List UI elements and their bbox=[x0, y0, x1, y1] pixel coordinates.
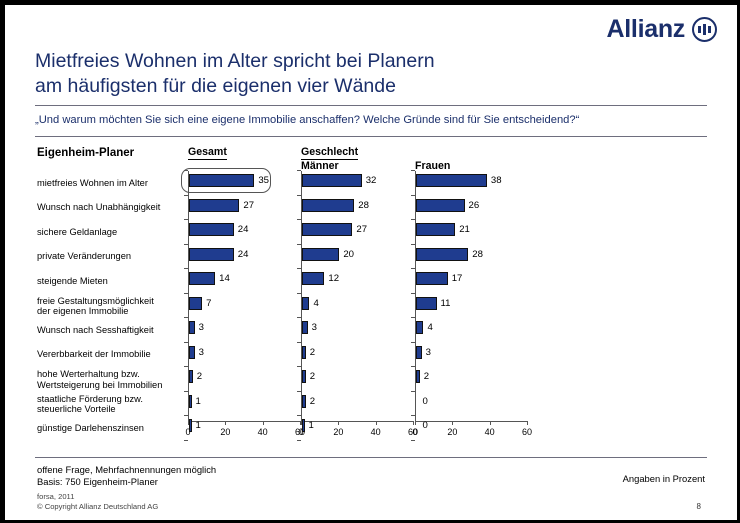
bar bbox=[189, 223, 234, 236]
bar-value-label: 38 bbox=[491, 174, 502, 187]
bar bbox=[189, 272, 215, 285]
divider-above-question bbox=[35, 105, 707, 106]
y-axis-tick bbox=[411, 391, 415, 392]
category-label: freie Gestaltungsmöglichkeitder eigenen … bbox=[37, 296, 182, 317]
x-axis-tick-label: 40 bbox=[371, 427, 381, 437]
bar-value-label: 28 bbox=[358, 199, 369, 212]
category-label: steigende Mieten bbox=[37, 276, 182, 287]
category-label: Vererbbarkeit der Immobilie bbox=[37, 349, 182, 360]
y-axis-tick bbox=[411, 317, 415, 318]
y-axis-tick bbox=[184, 219, 188, 220]
x-axis-tick bbox=[225, 421, 226, 425]
question-text: „Und warum möchten Sie sich eine eigene … bbox=[35, 114, 579, 126]
bar-value-label: 4 bbox=[313, 297, 318, 310]
bar-value-label: 3 bbox=[426, 346, 431, 359]
bar bbox=[416, 223, 455, 236]
y-axis-tick bbox=[411, 195, 415, 196]
y-axis-tick bbox=[297, 268, 301, 269]
bar-value-label: 14 bbox=[219, 272, 230, 285]
y-axis-tick bbox=[411, 244, 415, 245]
bar bbox=[416, 272, 448, 285]
footer-note-line1: offene Frage, Mehrfachnennungen möglich bbox=[37, 464, 216, 476]
y-axis-tick bbox=[411, 366, 415, 367]
allianz-logo: Allianz bbox=[607, 17, 717, 42]
page-title-line1: Mietfreies Wohnen im Alter spricht bei P… bbox=[35, 49, 635, 74]
y-axis-tick bbox=[184, 415, 188, 416]
category-label: Wunsch nach Unabhängigkeit bbox=[37, 202, 182, 213]
page-title: Mietfreies Wohnen im Alter spricht bei P… bbox=[35, 49, 635, 99]
y-axis-tick bbox=[297, 342, 301, 343]
y-axis-tick bbox=[184, 317, 188, 318]
y-axis-tick bbox=[297, 391, 301, 392]
bar bbox=[302, 321, 308, 334]
bar-value-label: 0 bbox=[423, 395, 428, 408]
y-axis-tick bbox=[411, 268, 415, 269]
footer-note-line2: Basis: 750 Eigenheim-Planer bbox=[37, 476, 216, 488]
footer-unit: Angaben in Prozent bbox=[623, 473, 705, 484]
y-axis-tick bbox=[297, 317, 301, 318]
footer-source-line1: forsa, 2011 bbox=[37, 492, 158, 502]
slide: Allianz Mietfreies Wohnen im Alter spric… bbox=[0, 0, 740, 523]
bar-value-label: 1 bbox=[196, 419, 201, 432]
bar bbox=[189, 346, 195, 359]
bar-value-label: 0 bbox=[423, 419, 428, 432]
y-axis-tick bbox=[184, 391, 188, 392]
x-axis-tick-label: 40 bbox=[485, 427, 495, 437]
bar bbox=[189, 419, 192, 432]
bar-value-label: 3 bbox=[199, 346, 204, 359]
bar-value-label: 12 bbox=[328, 272, 339, 285]
y-axis-tick bbox=[184, 268, 188, 269]
bar-value-label: 24 bbox=[238, 248, 249, 261]
y-axis-tick bbox=[297, 415, 301, 416]
bar-value-label: 20 bbox=[343, 248, 354, 261]
bar bbox=[189, 370, 193, 383]
column-header-geschlecht: Geschlecht bbox=[301, 146, 358, 160]
y-axis-tick bbox=[411, 293, 415, 294]
bar-value-label: 28 bbox=[472, 248, 483, 261]
bar bbox=[302, 174, 362, 187]
footer-source-line2: © Copyright Allianz Deutschland AG bbox=[37, 502, 158, 512]
bar bbox=[189, 297, 202, 310]
bar-value-label: 32 bbox=[366, 174, 377, 187]
x-axis-tick bbox=[452, 421, 453, 425]
divider-below-question bbox=[35, 136, 707, 137]
bar-value-label: 27 bbox=[243, 199, 254, 212]
category-label: mietfreies Wohnen im Alter bbox=[37, 178, 182, 189]
bar bbox=[302, 248, 339, 261]
category-label: Wunsch nach Sesshaftigkeit bbox=[37, 325, 182, 336]
bar-value-label: 26 bbox=[469, 199, 480, 212]
bar bbox=[416, 199, 465, 212]
bar bbox=[416, 174, 487, 187]
highlight-box bbox=[181, 168, 271, 193]
x-axis-tick-label: 20 bbox=[447, 427, 457, 437]
bar bbox=[302, 199, 354, 212]
bar-value-label: 7 bbox=[206, 297, 211, 310]
x-axis bbox=[415, 421, 527, 422]
bar-value-label: 2 bbox=[310, 395, 315, 408]
footer-note: offene Frage, Mehrfachnennungen möglich … bbox=[37, 464, 216, 487]
x-axis-tick-label: 40 bbox=[258, 427, 268, 437]
bar-value-label: 11 bbox=[441, 297, 451, 310]
y-axis-tick bbox=[411, 342, 415, 343]
y-axis-tick bbox=[184, 342, 188, 343]
y-axis-tick bbox=[411, 415, 415, 416]
x-axis-tick-label: 0 bbox=[412, 427, 417, 437]
category-label: hohe Werterhaltung bzw.Wertsteigerung be… bbox=[37, 369, 182, 390]
y-axis-tick bbox=[411, 170, 415, 171]
y-axis-tick bbox=[184, 293, 188, 294]
bar-value-label: 1 bbox=[196, 395, 201, 408]
bar-value-label: 24 bbox=[238, 223, 249, 236]
bar bbox=[416, 297, 437, 310]
chart-panel-frauen: 020406038262128171143200 bbox=[415, 171, 535, 449]
x-axis-tick-label: 20 bbox=[220, 427, 230, 437]
divider-footer bbox=[35, 457, 707, 458]
bar-value-label: 2 bbox=[424, 370, 429, 383]
bar bbox=[189, 321, 195, 334]
x-axis bbox=[301, 421, 413, 422]
y-axis-tick bbox=[184, 366, 188, 367]
chart-panel-maenner: 02040603228272012432221 bbox=[301, 171, 421, 449]
category-label: günstige Darlehenszinsen bbox=[37, 423, 182, 434]
bar-value-label: 2 bbox=[310, 370, 315, 383]
x-axis-tick bbox=[413, 421, 414, 425]
bar bbox=[302, 297, 309, 310]
category-label: sichere Geldanlage bbox=[37, 227, 182, 238]
x-axis bbox=[188, 421, 300, 422]
x-axis-tick bbox=[490, 421, 491, 425]
bar-value-label: 4 bbox=[427, 321, 432, 334]
bar-value-label: 21 bbox=[459, 223, 470, 236]
chart-row-title: Eigenheim-Planer bbox=[37, 147, 134, 159]
bar bbox=[189, 395, 192, 408]
category-label: staatliche Förderung bzw.steuerliche Vor… bbox=[37, 394, 182, 415]
bar bbox=[302, 370, 306, 383]
bar bbox=[302, 395, 306, 408]
bar bbox=[302, 346, 306, 359]
y-axis-tick bbox=[297, 219, 301, 220]
x-axis-tick-label: 60 bbox=[522, 427, 532, 437]
allianz-circle-bars-icon bbox=[692, 17, 717, 42]
page-title-line2: am häufigsten für die eigenen vier Wände bbox=[35, 74, 635, 99]
x-axis-tick-label: 20 bbox=[333, 427, 343, 437]
y-axis-tick bbox=[184, 244, 188, 245]
bar-value-label: 2 bbox=[310, 346, 315, 359]
bar bbox=[189, 199, 239, 212]
y-axis-tick bbox=[297, 170, 301, 171]
x-axis-tick bbox=[338, 421, 339, 425]
bar bbox=[416, 248, 468, 261]
brand-name: Allianz bbox=[607, 17, 685, 42]
bar-value-label: 27 bbox=[356, 223, 367, 236]
y-axis-tick bbox=[184, 195, 188, 196]
column-header-gesamt: Gesamt bbox=[188, 146, 227, 160]
chart-panel-gesamt: 02040603527242414733211 bbox=[188, 171, 308, 449]
bar-value-label: 2 bbox=[197, 370, 202, 383]
y-axis-tick bbox=[297, 440, 301, 441]
y-axis-tick bbox=[411, 219, 415, 220]
y-axis-tick bbox=[297, 195, 301, 196]
y-axis-tick bbox=[297, 244, 301, 245]
y-axis-tick bbox=[411, 440, 415, 441]
chart: Eigenheim-Planer Gesamt Geschlecht Männe… bbox=[5, 143, 740, 449]
page-number: 8 bbox=[697, 502, 701, 511]
bar bbox=[416, 370, 420, 383]
bar-value-label: 3 bbox=[199, 321, 204, 334]
bar bbox=[302, 223, 352, 236]
bar bbox=[189, 248, 234, 261]
x-axis-tick bbox=[376, 421, 377, 425]
bar bbox=[416, 346, 422, 359]
x-axis-tick bbox=[263, 421, 264, 425]
bar-value-label: 1 bbox=[309, 419, 314, 432]
x-axis-tick bbox=[415, 421, 416, 425]
bar bbox=[302, 419, 305, 432]
bar-value-label: 3 bbox=[312, 321, 317, 334]
y-axis-tick bbox=[184, 440, 188, 441]
y-axis-tick bbox=[297, 366, 301, 367]
bar bbox=[416, 321, 423, 334]
y-axis-tick bbox=[297, 293, 301, 294]
x-axis-tick bbox=[527, 421, 528, 425]
bar-value-label: 17 bbox=[452, 272, 463, 285]
bar bbox=[302, 272, 324, 285]
category-label: private Veränderungen bbox=[37, 251, 182, 262]
footer-source: forsa, 2011 © Copyright Allianz Deutschl… bbox=[37, 492, 158, 511]
